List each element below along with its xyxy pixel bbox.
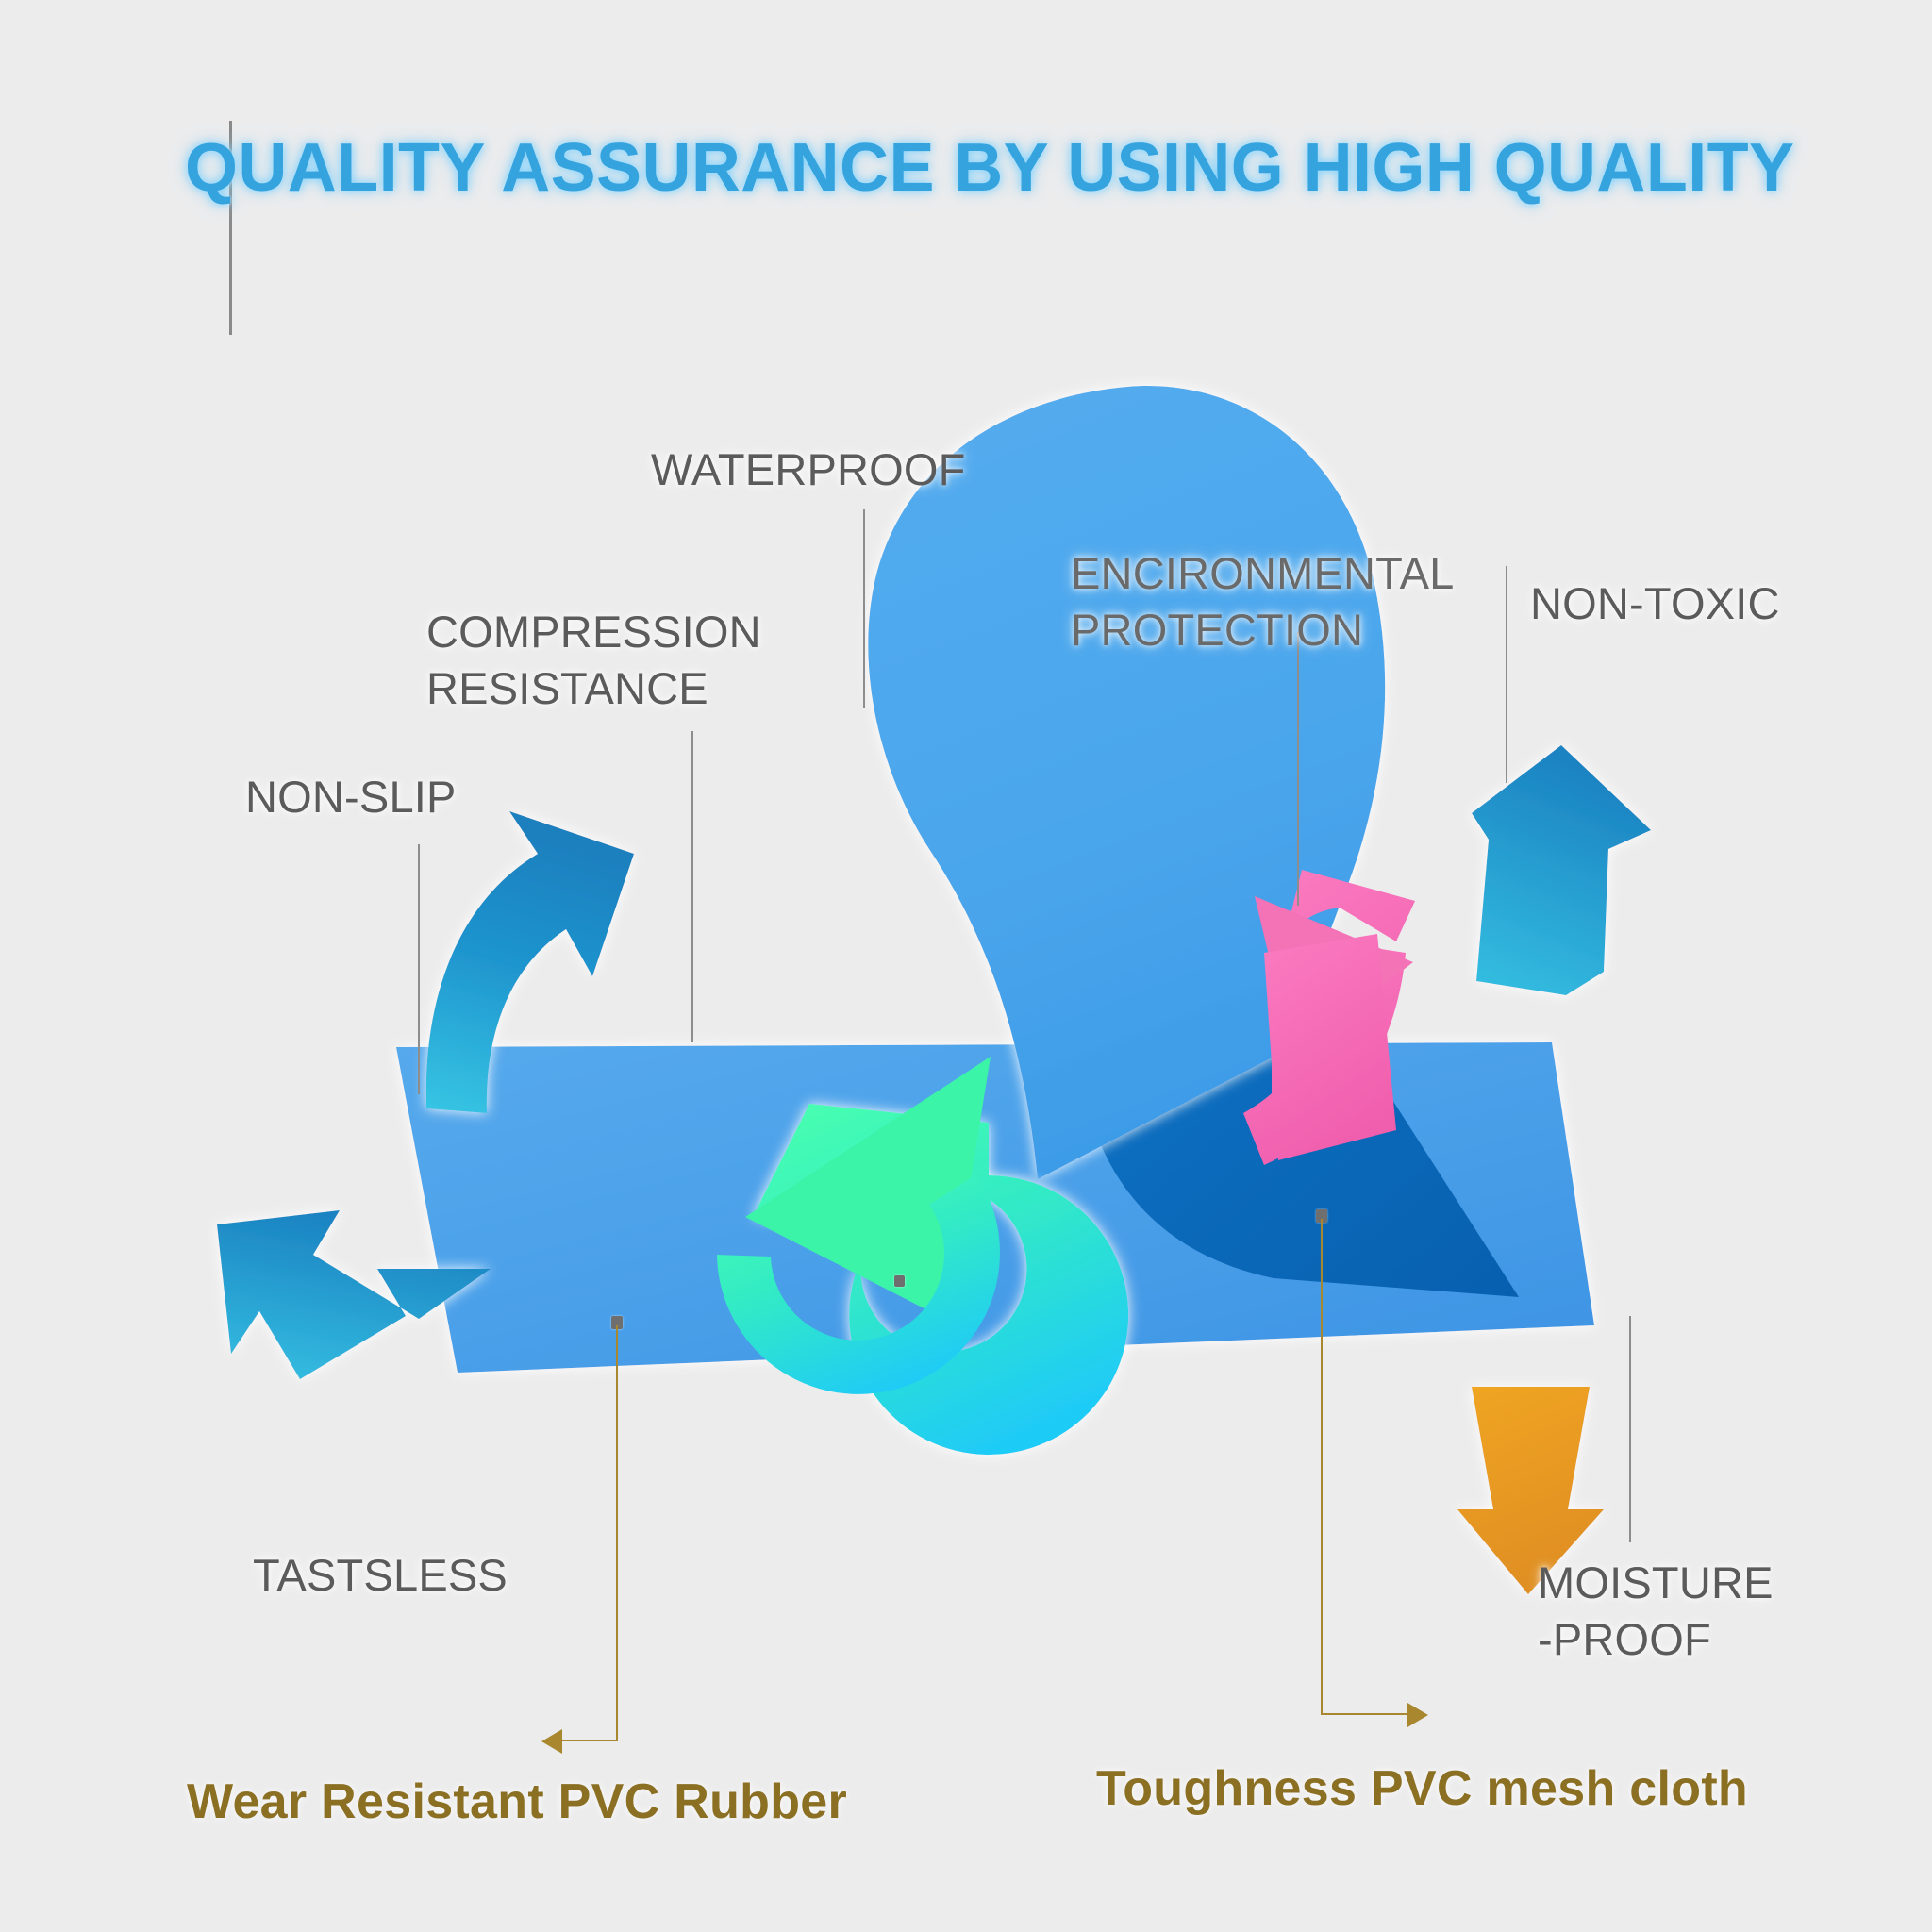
page-title: QUALITY ASSURANCE BY USING HIGH QUALITY [185,129,1845,207]
anchor-dot-center [894,1275,905,1287]
gold-arrowhead-left [541,1727,568,1756]
leader-moisture [1629,1316,1631,1542]
deep-blue-underlay [1076,929,1519,1297]
callout-waterproof: WATERPROOF [651,441,966,498]
leader-environmental [1297,632,1299,906]
callout-moisture-proof: MOISTURE -PROOF [1538,1555,1774,1668]
callout-non-toxic: NON-TOXIC [1530,575,1780,632]
environmental-arrow [1243,870,1415,1165]
leader-non-slip [418,844,420,1094]
flat-mat-sheet [396,1042,1594,1373]
callout-tastsless: TASTSLESS [253,1547,508,1604]
gold-leader-pvc-mesh-vertical [1321,1219,1323,1714]
gold-arrowhead-right [1402,1701,1428,1729]
caption-pvc-mesh: Toughness PVC mesh cloth [1096,1760,1748,1817]
callout-environmental-protection: ENCIRONMENTAL PROTECTION [1071,545,1454,658]
callout-non-slip: NON-SLIP [245,769,457,825]
non-toxic-arrow [1472,745,1651,995]
leader-waterproof [863,509,865,708]
non-slip-arrow [426,811,634,1113]
gold-leader-pvc-mesh-horizontal [1321,1713,1407,1715]
tastsless-arrow [217,1210,491,1379]
curved-sheet [868,386,1385,1179]
callout-compression-resistance: COMPRESSION RESISTANCE [426,604,761,717]
caption-pvc-rubber: Wear Resistant PVC Rubber [187,1774,847,1830]
leader-non-toxic [1506,566,1507,783]
gold-leader-pvc-rubber-vertical [616,1325,618,1740]
leader-compression [691,731,693,1042]
recycle-arrow [717,1057,1128,1455]
infographic-canvas: QUALITY ASSURANCE BY USING HIGH QUALITY [0,0,1932,1932]
